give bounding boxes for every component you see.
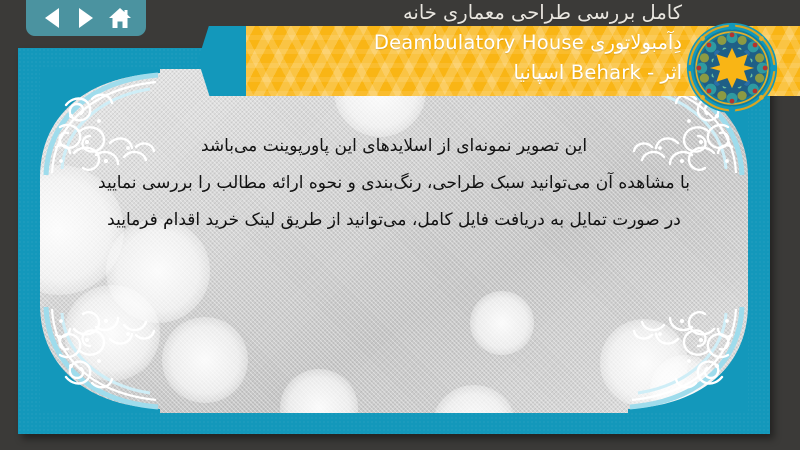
navigation-toolbar[interactable] [26,0,146,36]
slide-viewer: این تصویر نمونه‌ای از اسلایدهای این پاور… [0,0,800,450]
slide-content-panel [40,69,748,413]
home-icon [108,7,132,29]
bokeh-light [106,219,210,323]
slide-frame: این تصویر نمونه‌ای از اسلایدهای این پاور… [18,48,770,434]
triangle-left-icon [45,8,59,28]
star-mandala-medallion-icon [686,22,778,114]
bokeh-light [470,291,534,355]
bokeh-light [650,355,720,413]
bokeh-light [600,319,688,407]
bokeh-light [64,285,160,381]
triangle-right-icon [79,8,93,28]
bokeh-light [162,317,248,403]
bokeh-light [40,165,124,295]
bokeh-light [280,369,358,413]
banner-arrow-tip [198,24,250,96]
next-slide-button[interactable] [73,5,99,31]
home-button[interactable] [107,5,133,31]
bokeh-light [432,385,516,413]
panel-texture [40,69,748,413]
previous-slide-button[interactable] [39,5,65,31]
